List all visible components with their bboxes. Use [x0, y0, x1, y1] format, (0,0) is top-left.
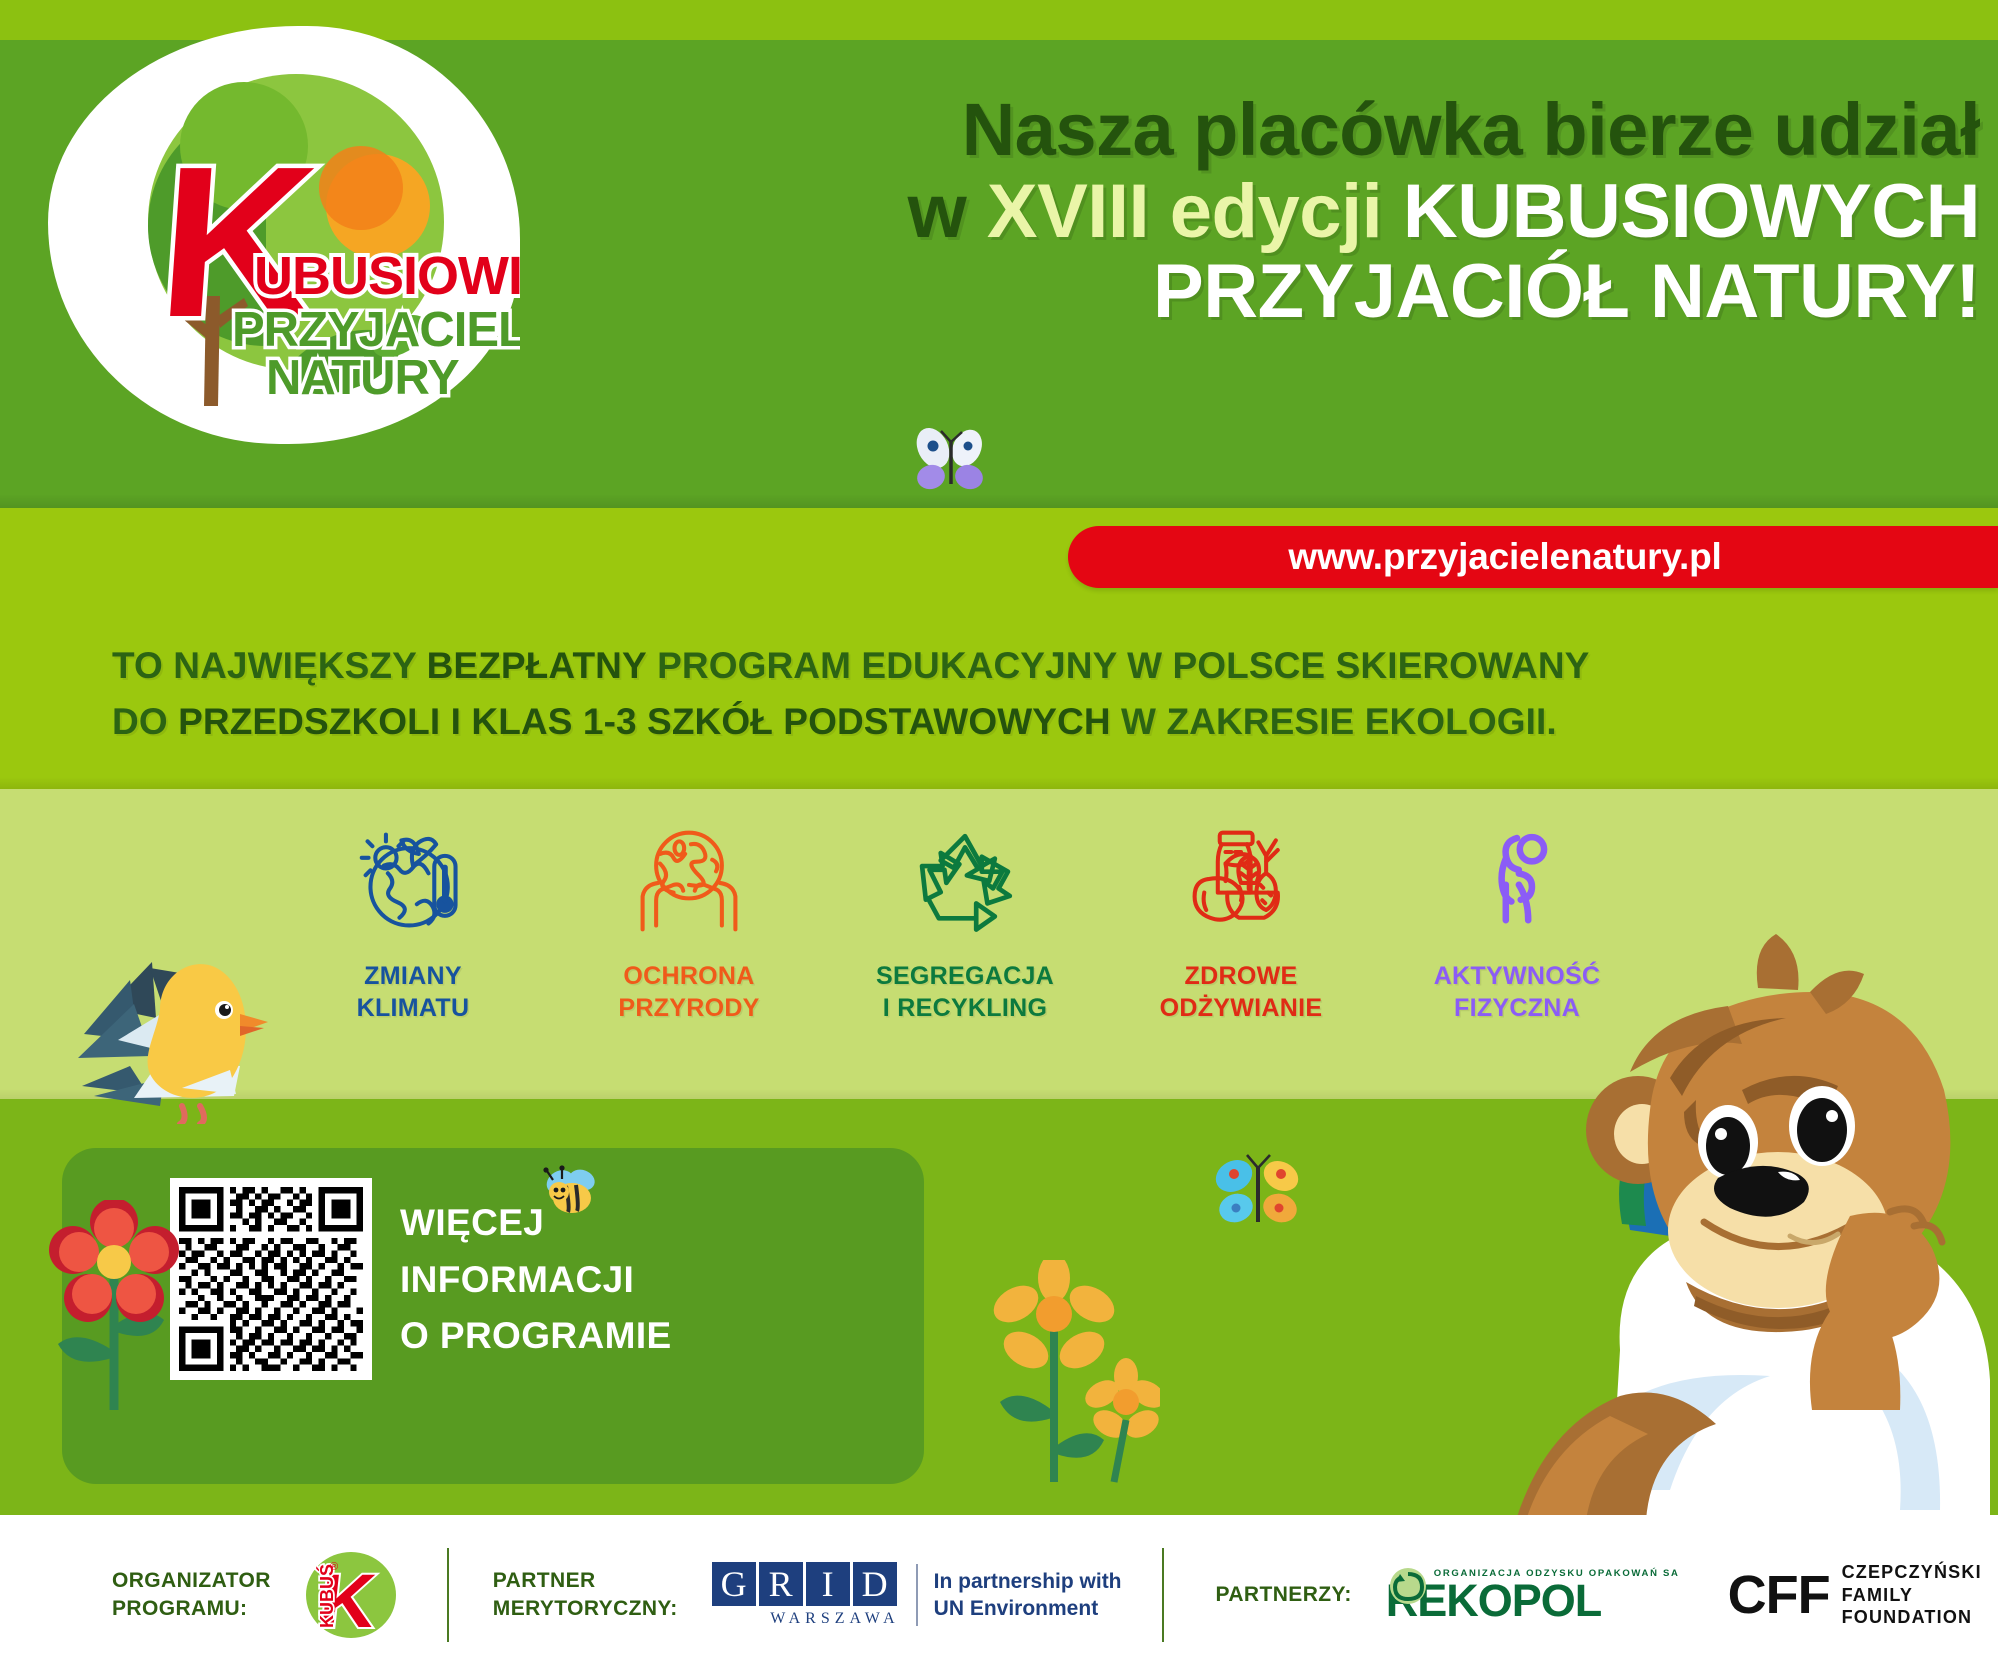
red-flower-illustration	[46, 1200, 186, 1416]
more-info-line-1: WIĘCEJ	[400, 1195, 820, 1252]
headline-edition: XVIII edycji	[987, 169, 1382, 254]
program-description-line-2: DO PRZEDSZKOLI I KLAS 1-3 SZKÓŁ PODSTAWO…	[112, 694, 1902, 750]
flying-bird-illustration	[64, 948, 314, 1124]
cff-abbrev: CFF	[1728, 1564, 1830, 1626]
partners-label: PARTNERZY:	[1216, 1581, 1352, 1609]
headline: Nasza placówka bierze udział w XVIII edy…	[520, 92, 1980, 331]
bee-illustration	[538, 1160, 604, 1222]
un-line-1: In partnership with	[934, 1568, 1122, 1595]
logo-word-kubusiowi: UBUSIOWI	[254, 246, 520, 306]
grid-warszawa-logo: G R I D WARSZAWA In partnership with UN …	[712, 1562, 1122, 1628]
desc-2a: DO	[112, 701, 178, 742]
hands-holding-globe-icon	[576, 820, 802, 942]
fruit-basket-icon	[1128, 820, 1354, 942]
rekopol-wordmark: REKOPOL	[1386, 1580, 1680, 1623]
un-partnership-text: In partnership with UN Environment	[934, 1568, 1122, 1623]
category-nature-protection[interactable]: OCHRONA PRZYRODY	[576, 820, 802, 1024]
category-label-nature: OCHRONA PRZYRODY	[576, 960, 802, 1024]
partner-label: PARTNER MERYTORYCZNY:	[493, 1567, 678, 1623]
program-logo: K UBUSIOWI PRZYJACIELE NATURY	[48, 26, 520, 444]
more-info-text: WIĘCEJ INFORMACJI O PROGRAMIE	[400, 1195, 820, 1365]
rekopol-logo: ORGANIZACJA ODZYSKU OPAKOWAŃ SA REKOPOL	[1386, 1568, 1680, 1623]
program-description-line-1: TO NAJWIĘKSZY BEZPŁATNY PROGRAM EDUKACYJ…	[112, 638, 1902, 694]
desc-1c: PROGRAM EDUKACYJNY W POLSCE SKIEROWANY	[647, 645, 1590, 686]
un-line-2: UN Environment	[934, 1595, 1122, 1622]
rekopol-recycle-icon	[1386, 1566, 1430, 1610]
grid-letter-r: R	[759, 1562, 803, 1606]
category-label-eating: ZDROWE ODŻYWIANIE	[1128, 960, 1354, 1024]
headline-line-1: Nasza placówka bierze udział	[520, 92, 1980, 167]
purple-butterfly-illustration	[905, 428, 999, 498]
yellow-flower-illustration	[990, 1260, 1160, 1486]
cff-full-name: CZEPCZYŃSKI FAMILY FOUNDATION	[1842, 1561, 1982, 1629]
program-logo-artwork: K UBUSIOWI PRZYJACIELE NATURY	[48, 26, 520, 444]
category-healthy-eating[interactable]: ZDROWE ODŻYWIANIE	[1128, 820, 1354, 1024]
desc-2b: PRZEDSZKOLI I KLAS 1-3 SZKÓŁ PODSTAWOWYC…	[178, 701, 1111, 742]
website-url-label: www.przyjacielenatury.pl	[1288, 536, 1777, 578]
kubus-logo: K KUBUŚ ®	[299, 1549, 403, 1641]
organizer-block: ORGANIZATOR PROGRAMU: K KUBUŚ ®	[112, 1549, 403, 1641]
headline-brand: KUBUSIOWYCH	[1403, 169, 1980, 254]
partners-block: PARTNERZY: ORGANIZACJA ODZYSKU OPAKOWAŃ …	[1216, 1561, 1982, 1629]
recycling-arrows-icon	[852, 820, 1078, 942]
footer-divider-2	[1162, 1548, 1164, 1642]
program-description: TO NAJWIĘKSZY BEZPŁATNY PROGRAM EDUKACYJ…	[112, 638, 1902, 749]
grid-letter-i: I	[806, 1562, 850, 1606]
kubus-logo-wordmark: KUBUŚ	[316, 1564, 337, 1628]
grid-subtitle: WARSZAWA	[712, 1610, 900, 1628]
footer: ORGANIZATOR PROGRAMU: K KUBUŚ ® PARTNER …	[0, 1515, 1998, 1675]
category-label-climate: ZMIANY KLIMATU	[300, 960, 526, 1024]
czepczynski-family-foundation-logo: CFF CZEPCZYŃSKI FAMILY FOUNDATION	[1728, 1561, 1982, 1629]
website-url-banner[interactable]: www.przyjacielenatury.pl	[1068, 526, 1998, 588]
desc-2c: W ZAKRESIE EKOLOGII.	[1111, 701, 1557, 742]
category-list: ZMIANY KLIMATU OC	[300, 820, 1630, 1080]
category-climate-change[interactable]: ZMIANY KLIMATU	[300, 820, 526, 1024]
organizer-label: ORGANIZATOR PROGRAMU:	[112, 1567, 271, 1623]
qr-matrix	[179, 1187, 363, 1371]
more-info-line-2: INFORMACJI	[400, 1252, 820, 1309]
more-info-line-3: O PROGRAMIE	[400, 1308, 820, 1365]
climate-globe-thermometer-icon	[300, 820, 526, 942]
kubus-bear-mascot	[1490, 930, 1998, 1520]
colorful-butterfly-illustration	[1208, 1150, 1308, 1240]
logo-word-natury: NATURY	[266, 351, 459, 405]
desc-1a: TO NAJWIĘKSZY	[112, 645, 427, 686]
partner-block: PARTNER MERYTORYCZNY: G R I D WARSZAWA I…	[493, 1562, 1122, 1628]
poster-root: K UBUSIOWI PRZYJACIELE NATURY Nasza plac…	[0, 0, 1998, 1675]
category-recycling[interactable]: SEGREGACJA I RECYKLING	[852, 820, 1078, 1024]
desc-1b: BEZPŁATNY	[427, 645, 647, 686]
logo-word-przyjaciele: PRZYJACIELE	[232, 303, 520, 357]
exercising-person-icon	[1404, 820, 1630, 942]
program-info-qr-code[interactable]	[170, 1178, 372, 1380]
footer-divider-1	[447, 1548, 449, 1642]
grid-divider	[916, 1564, 918, 1626]
headline-word-w: w	[908, 169, 967, 254]
headline-line-3: PRZYJACIÓŁ NATURY!	[520, 253, 1980, 331]
grid-letter-d: D	[853, 1562, 897, 1606]
grid-letter-g: G	[712, 1562, 756, 1606]
category-label-recycling: SEGREGACJA I RECYKLING	[852, 960, 1078, 1024]
kubus-registered-mark: ®	[330, 1561, 338, 1573]
headline-line-2: w XVIII edycji KUBUSIOWYCH	[520, 173, 1980, 251]
